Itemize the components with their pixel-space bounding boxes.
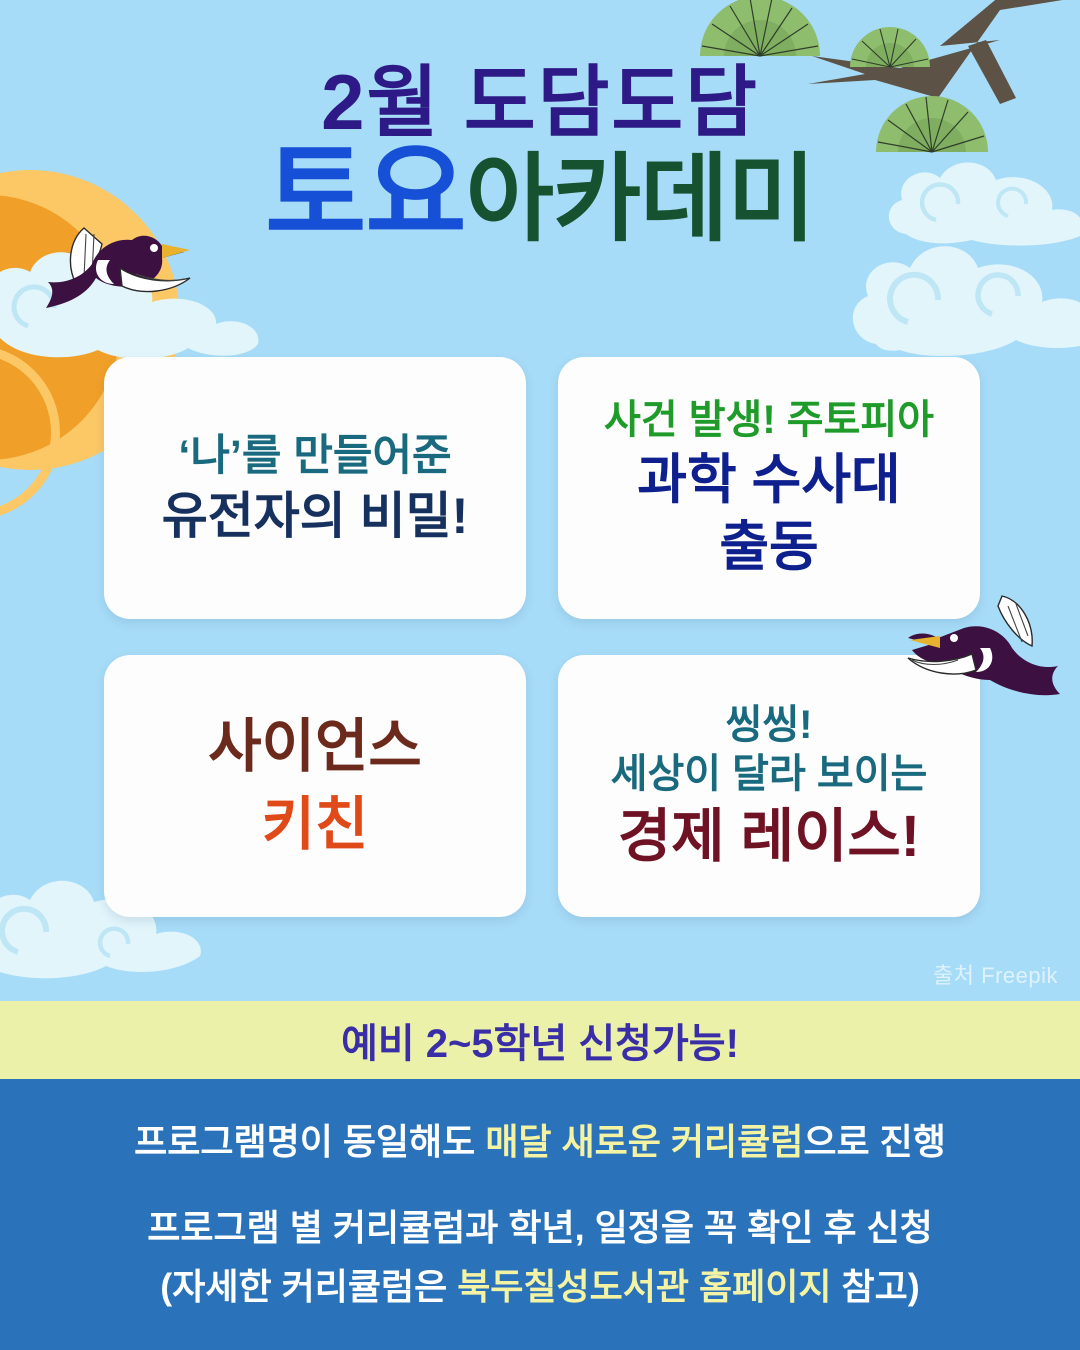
footer-notes: 프로그램명이 동일해도 매달 새로운 커리큘럼으로 진행 프로그램 별 커리큘럼… — [0, 1079, 1080, 1350]
eligibility-banner-text: 예비 2~5학년 신청가능! — [341, 1011, 739, 1069]
page-title-toyo: 토요 — [265, 133, 465, 256]
eligibility-banner: 예비 2~5학년 신청가능! — [0, 1001, 1080, 1079]
footer-note-line2: 프로그램 별 커리큘럼과 학년, 일정을 꼭 확인 후 신청 — [147, 1200, 933, 1256]
program-card-science-kitchen[interactable]: 사이언스 키친 — [104, 655, 526, 917]
footer-note-line1-highlight: 매달 새로운 커리큘럼 — [485, 1121, 803, 1162]
program-card-economy-race[interactable]: 씽씽! 세상이 달라 보이는 경제 레이스! — [558, 655, 980, 917]
page-title-line1: 2월 도담도담 — [0, 62, 1080, 144]
poster-root: 2월 도담도담 토요아카데미 ‘나’를 만들어준 유전자의 비밀! 사건 발생!… — [0, 0, 1080, 1350]
footer-note-line3-a: (자세한 커리큘럼은 — [160, 1266, 457, 1307]
program-card-subtitle: 사이언스 — [208, 712, 421, 783]
footer-note-line1: 프로그램명이 동일해도 매달 새로운 커리큘럼으로 진행 — [134, 1114, 946, 1170]
program-card-zootopia[interactable]: 사건 발생! 주토피아 과학 수사대 출동 — [558, 357, 980, 619]
program-card-subtitle-2: 세상이 달라 보이는 — [611, 750, 928, 799]
program-card-title-2: 출동 — [719, 516, 818, 580]
program-card-title: 경제 레이스! — [618, 803, 920, 871]
sun-icon-ring — [0, 345, 60, 520]
program-card-subtitle: 사건 발생! 주토피아 — [604, 396, 934, 445]
footer-note-line3: (자세한 커리큘럼은 북두칠성도서관 홈페이지 참고) — [160, 1259, 920, 1315]
program-card-title-1: 과학 수사대 — [637, 449, 900, 513]
poster-title: 2월 도담도담 토요아카데미 — [0, 62, 1080, 250]
footer-note-line3-b: 참고) — [832, 1266, 920, 1307]
image-credit: 출처 Freepik — [933, 958, 1058, 990]
program-card-title: 유전자의 비밀! — [162, 487, 469, 546]
program-card-subtitle-1: 씽씽! — [726, 701, 813, 750]
page-title-line2: 토요아카데미 — [0, 140, 1080, 250]
footer-note-line1-b: 으로 진행 — [803, 1121, 945, 1162]
program-card-subtitle: ‘나’를 만들어준 — [178, 430, 451, 482]
footer-note-line1-a: 프로그램명이 동일해도 — [134, 1121, 485, 1162]
program-card-grid: ‘나’를 만들어준 유전자의 비밀! 사건 발생! 주토피아 과학 수사대 출동… — [104, 357, 980, 927]
footer-note-line3-highlight: 북두칠성도서관 홈페이지 — [457, 1266, 831, 1307]
program-card-title: 키친 — [262, 791, 369, 859]
program-card-genetics[interactable]: ‘나’를 만들어준 유전자의 비밀! — [104, 357, 526, 619]
page-title-academy: 아카데미 — [466, 146, 815, 253]
